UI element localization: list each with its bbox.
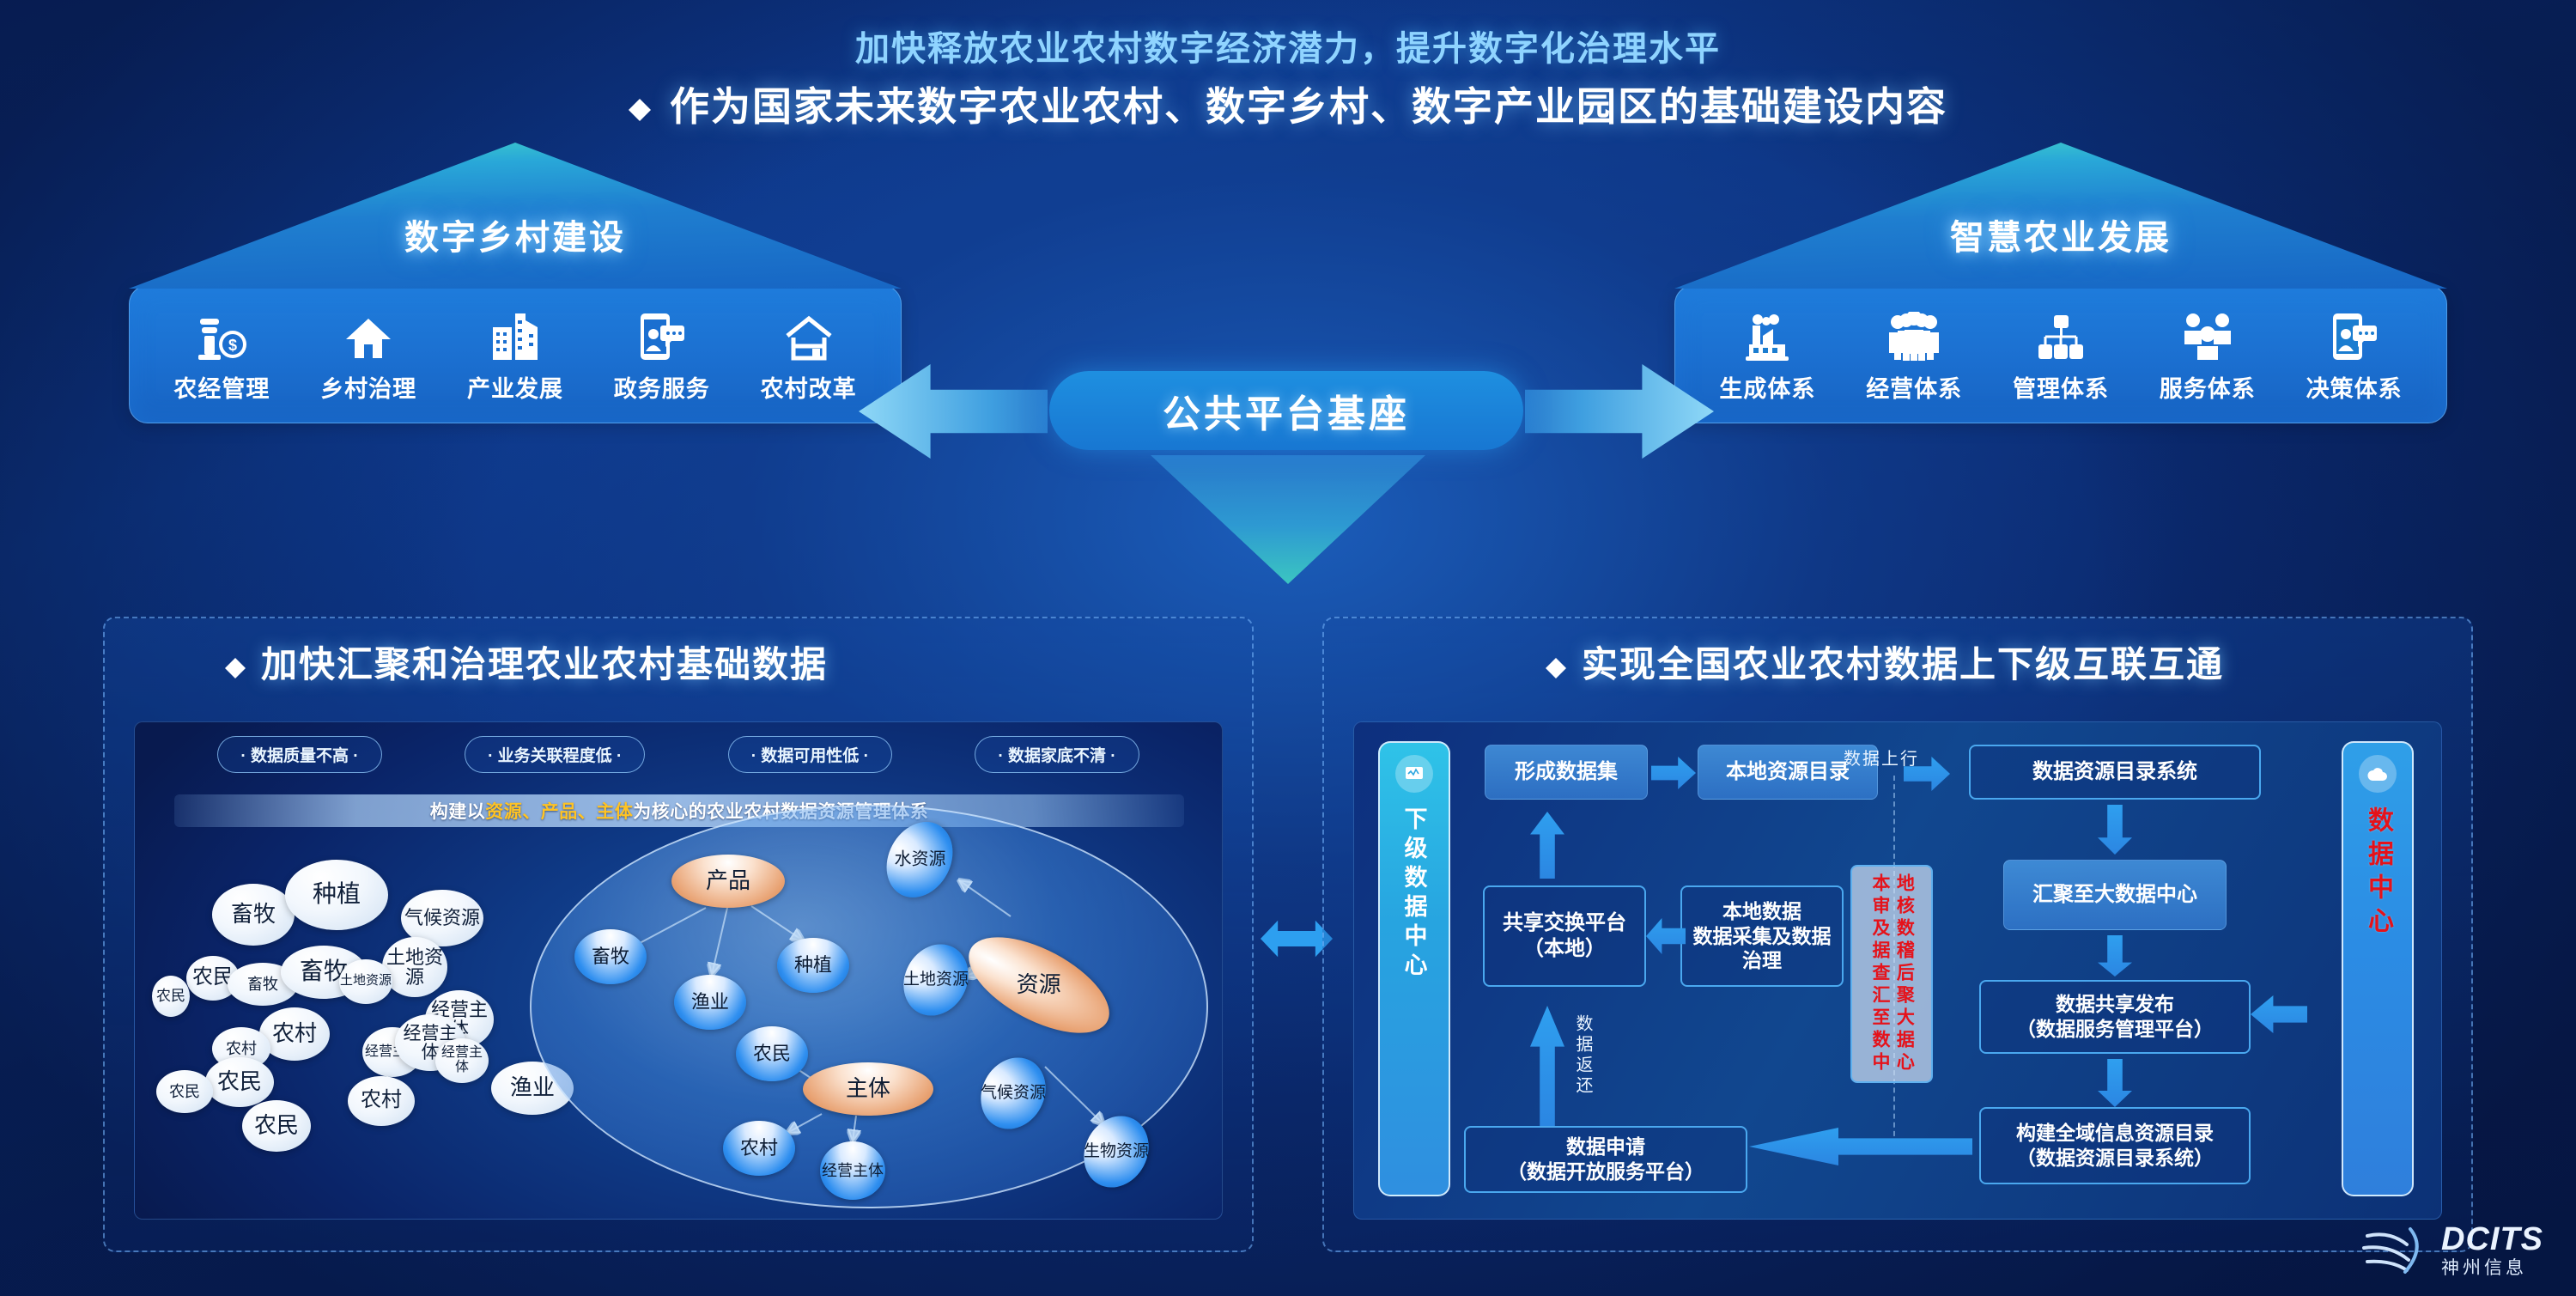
member-node: 经营主体 — [820, 1141, 885, 1200]
member-node: 生物资源 — [1072, 1104, 1161, 1199]
house-right-item-1-label: 经营体系 — [1857, 370, 1971, 404]
problem-pill-1: · 业务关联程度低 · — [465, 736, 645, 773]
rail-right-label: 数据中心 — [2359, 806, 2397, 940]
data-governance-canvas: · 数据质量不高 ·· 业务关联程度低 ·· 数据可用性低 ·· 数据家底不清 … — [134, 721, 1223, 1220]
house-left-roof: 数字乡村建设 — [129, 143, 902, 289]
rail-left-label: 下级数据中心 — [1398, 806, 1431, 982]
member-node: 农村 — [723, 1121, 795, 1176]
box-local-data-gov[interactable]: 本地数据 数据采集及数据治理 — [1680, 885, 1844, 987]
member-node: 气候资源 — [969, 1046, 1058, 1141]
section-right-title-text: 实现全国农业农村数据上下级互联互通 — [1582, 644, 2224, 685]
red-note-col-left: 本审及据查汇至数中 — [1868, 873, 1892, 1074]
core-node-layer: 产品主体资源畜牧渔业种植农民农村经营主体水资源土地资源气候资源生物资源 — [530, 805, 1208, 1208]
house-right-item-1[interactable]: 经营体系 — [1857, 308, 1971, 404]
diamond-bullet-icon — [225, 648, 246, 668]
house-right-roof: 智慧农业发展 — [1674, 143, 2447, 289]
scatter-bubble: 农民 — [242, 1100, 311, 1152]
box-catalog-system[interactable]: 数据资源目录系统 — [1969, 745, 2261, 800]
core-node: 产品 — [671, 855, 785, 908]
house-left-item-0-label: 农经管理 — [165, 370, 278, 404]
scatter-bubble: 农民 — [205, 1057, 274, 1107]
mobile-service-icon — [605, 308, 719, 362]
member-node: 农民 — [736, 1026, 808, 1081]
house-right-item-3-label: 服务体系 — [2151, 370, 2264, 404]
house-right-title: 智慧农业发展 — [1674, 210, 2447, 259]
mobile-decision-icon — [2298, 308, 2411, 362]
label-data-return: 数据返还 — [1571, 1014, 1595, 1097]
diamond-bullet-icon — [629, 88, 651, 110]
member-node: 渔业 — [674, 975, 746, 1030]
rail-data-center[interactable]: 数据中心 — [2342, 741, 2414, 1196]
house-left: 数字乡村建设 $ 农经管理 乡村治理 — [129, 143, 902, 423]
house-right-item-0-label: 生成体系 — [1710, 370, 1824, 404]
interconnect-flow-canvas: 下级数据中心 数据中心 形成数据集 本地资源目录 共享交换平台 （本地） 本地数… — [1353, 721, 2442, 1220]
box-share-publish[interactable]: 数据共享发布 （数据服务管理平台） — [1979, 980, 2251, 1054]
core-node: 主体 — [803, 1062, 933, 1116]
red-note-col-right: 地核数稽后聚大据心 — [1892, 873, 1916, 1074]
platform-base-pill[interactable]: 公共平台基座 — [1049, 371, 1523, 450]
house-right-item-2-label: 管理体系 — [2004, 370, 2117, 404]
box-converge-bigdata[interactable]: 汇聚至大数据中心 — [2003, 860, 2227, 930]
house-right-body: 生成体系 经营体系 — [1674, 285, 2447, 423]
platform-base-label: 公共平台基座 — [1163, 383, 1410, 438]
house-right-item-2[interactable]: 管理体系 — [2004, 308, 2117, 404]
page-subtitle: 作为国家未来数字农业农村、数字乡村、数字产业园区的基础建设内容 — [0, 76, 2576, 132]
arrow-left-icon — [2251, 995, 2307, 1033]
arrow-down-icon — [2098, 1059, 2132, 1107]
problem-pill-3: · 数据家底不清 · — [975, 736, 1139, 773]
scatter-bubble: 种植 — [285, 860, 388, 930]
member-node: 土地资源 — [891, 933, 981, 1027]
company-logo: DCITS 神州信息 — [2360, 1223, 2543, 1277]
house-left-item-2[interactable]: 产业发展 — [459, 308, 572, 404]
label-data-uplink: 数据上行 — [1844, 745, 1919, 770]
monitor-icon — [1395, 755, 1433, 793]
core-banner-prefix: 构建以 — [430, 802, 486, 822]
scatter-bubble: 畜牧 — [212, 884, 295, 946]
home-icon — [312, 308, 425, 362]
arrow-down-icon — [2098, 805, 2132, 855]
section-left-title-text: 加快汇聚和治理农业农村基础数据 — [261, 644, 828, 685]
core-node: 资源 — [954, 918, 1123, 1053]
scatter-bubble: 农村 — [348, 1076, 415, 1126]
box-form-dataset[interactable]: 形成数据集 — [1485, 745, 1648, 800]
problem-pill-2: · 数据可用性低 · — [728, 736, 892, 773]
money-management-icon: $ — [165, 308, 278, 362]
house-left-item-2-label: 产业发展 — [459, 370, 572, 404]
house-left-body: $ 农经管理 乡村治理 — [129, 285, 902, 423]
scatter-bubble: 土地资源 — [339, 959, 392, 1004]
box-share-platform[interactable]: 共享交换平台 （本地） — [1483, 885, 1646, 987]
scatter-bubble: 经营主体 — [435, 1038, 489, 1083]
house-right-item-4[interactable]: 决策体系 — [2298, 308, 2411, 404]
factory-icon — [1710, 308, 1824, 362]
box-build-global-catalog[interactable]: 构建全域信息资源目录 （数据资源目录系统） — [1979, 1107, 2251, 1184]
house-right-item-4-label: 决策体系 — [2298, 370, 2411, 404]
member-node: 畜牧 — [574, 929, 647, 984]
scatter-bubble: 土地资源 — [382, 937, 447, 997]
logo-brand: DCITS — [2441, 1223, 2543, 1256]
member-node: 水资源 — [874, 810, 966, 909]
svg-text:$: $ — [228, 337, 237, 354]
member-node: 种植 — [777, 938, 849, 993]
problem-pill-0: · 数据质量不高 · — [217, 736, 381, 773]
house-right-item-0[interactable]: 生成体系 — [1710, 308, 1824, 404]
house-reform-icon — [752, 308, 866, 362]
page-title: 加快释放农业农村数字经济潜力，提升数字化治理水平 — [0, 21, 2576, 70]
section-left-title: 加快汇聚和治理农业农村基础数据 — [225, 636, 828, 688]
red-note-box: 本审及据查汇至数中 地核数稽后聚大据心 — [1850, 865, 1933, 1083]
house-right: 智慧农业发展 生成体系 — [1674, 143, 2447, 423]
problem-pill-row: · 数据质量不高 ·· 业务关联程度低 ·· 数据可用性低 ·· 数据家底不清 … — [135, 736, 1222, 773]
house-left-item-1-label: 乡村治理 — [312, 370, 425, 404]
arrow-up-return-icon — [1530, 1006, 1564, 1126]
section-right-title: 实现全国农业农村数据上下级互联互通 — [1546, 636, 2224, 688]
cloud-icon — [2359, 755, 2397, 793]
people-group-icon — [1857, 308, 1971, 362]
org-chart-icon — [2004, 308, 2117, 362]
house-left-item-3[interactable]: 政务服务 — [605, 308, 719, 404]
page-subtitle-text: 作为国家未来数字农业农村、数字乡村、数字产业园区的基础建设内容 — [670, 84, 1947, 129]
logo-name: 神州信息 — [2441, 1259, 2543, 1277]
house-left-item-4[interactable]: 农村改革 — [752, 308, 866, 404]
arrow-left-long-icon — [1749, 1128, 1972, 1165]
house-left-item-3-label: 政务服务 — [605, 370, 719, 404]
diamond-bullet-icon — [1546, 648, 1566, 668]
arrow-down-icon — [2098, 935, 2132, 977]
team-service-icon — [2151, 308, 2264, 362]
swoosh-icon — [2360, 1224, 2433, 1277]
scatter-bubble: 农民 — [156, 1070, 213, 1113]
scatter-bubble: 农民 — [152, 976, 190, 1017]
house-right-item-3[interactable]: 服务体系 — [2151, 308, 2264, 404]
house-left-title: 数字乡村建设 — [129, 210, 902, 259]
arrow-down-icon — [1151, 455, 1425, 584]
house-left-item-4-label: 农村改革 — [752, 370, 866, 404]
buildings-icon — [459, 308, 572, 362]
rail-lower-data-center[interactable]: 下级数据中心 — [1378, 741, 1450, 1196]
organized-data-ellipse: 产品主体资源畜牧渔业种植农民农村经营主体水资源土地资源气候资源生物资源 — [530, 805, 1208, 1208]
box-data-apply[interactable]: 数据申请 （数据开放服务平台） — [1464, 1126, 1747, 1193]
arrow-right-icon — [1651, 757, 1696, 789]
house-left-item-1[interactable]: 乡村治理 — [312, 308, 425, 404]
house-left-item-0[interactable]: $ 农经管理 — [165, 308, 278, 404]
arrow-up-icon — [1530, 812, 1564, 879]
